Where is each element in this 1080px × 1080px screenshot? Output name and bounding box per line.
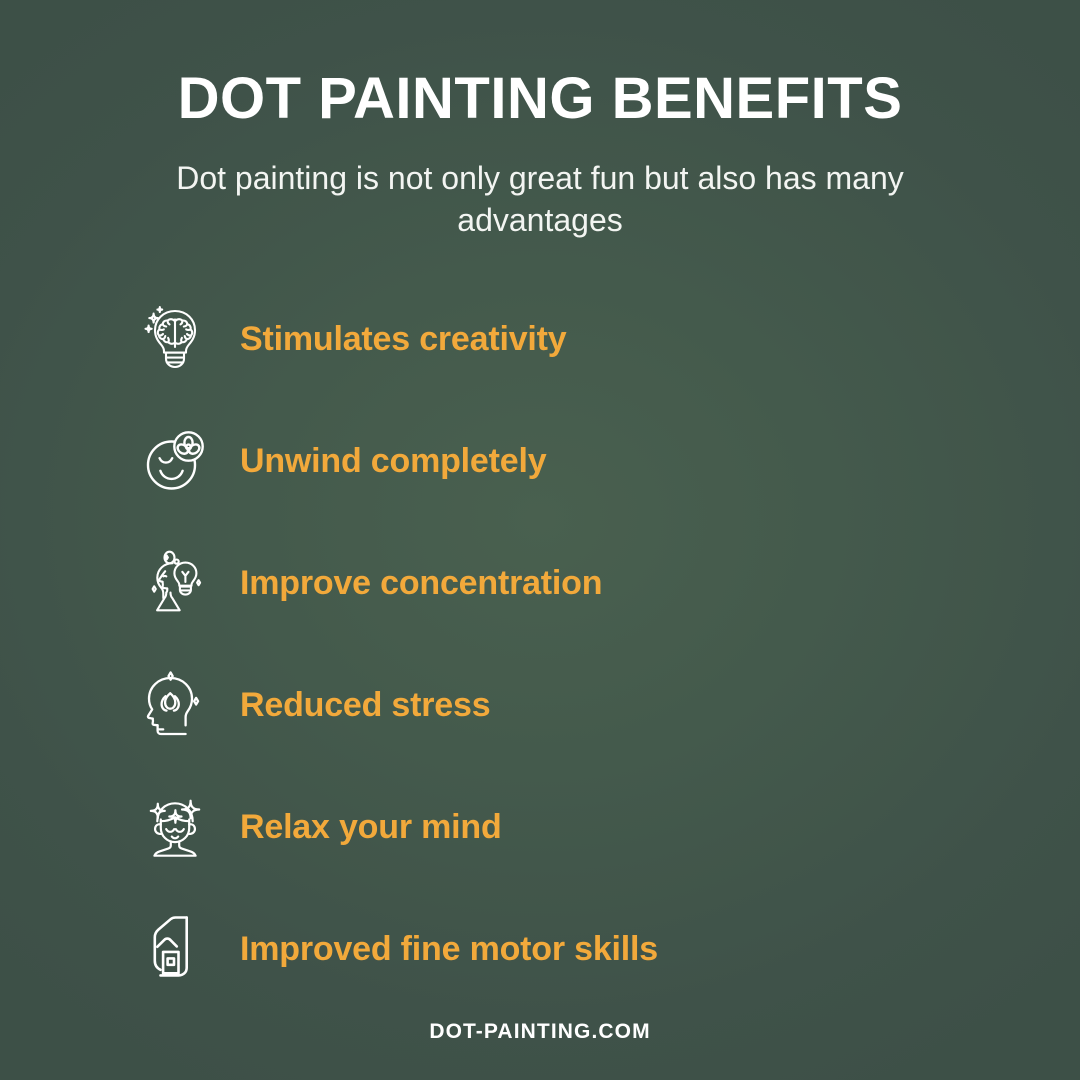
benefit-label-6: Improved fine motor skills bbox=[240, 930, 658, 969]
page-title: DOT PAINTING BENEFITS bbox=[0, 68, 1080, 131]
poster-header: DOT PAINTING BENEFITS Dot painting is no… bbox=[0, 0, 1080, 241]
smiling-face-flower-icon bbox=[142, 425, 208, 497]
benefit-label-2: Unwind completely bbox=[240, 442, 546, 481]
benefits-list: Stimulates creativity bbox=[0, 289, 1080, 999]
head-profile-lightbulb-icon bbox=[142, 547, 208, 619]
benefit-label-1: Stimulates creativity bbox=[240, 320, 567, 359]
website-url: DOT-PAINTING.COM bbox=[429, 1020, 650, 1043]
benefit-item-6: Improved fine motor skills bbox=[142, 899, 658, 999]
head-profile-lotus-icon bbox=[142, 669, 208, 741]
benefit-item-3: Improve concentration bbox=[142, 533, 602, 633]
poster-footer: DOT-PAINTING.COM bbox=[0, 1020, 1080, 1044]
lightbulb-brain-icon bbox=[142, 303, 208, 375]
benefit-item-4: Reduced stress bbox=[142, 655, 490, 755]
calm-face-stars-icon bbox=[142, 791, 208, 863]
hand-holding-tool-icon bbox=[142, 913, 208, 985]
benefit-label-5: Relax your mind bbox=[240, 808, 502, 847]
benefit-item-5: Relax your mind bbox=[142, 777, 502, 877]
poster-canvas: DOT PAINTING BENEFITS Dot painting is no… bbox=[0, 0, 1080, 1080]
benefit-label-4: Reduced stress bbox=[240, 686, 490, 725]
benefit-label-3: Improve concentration bbox=[240, 564, 602, 603]
benefit-item-1: Stimulates creativity bbox=[142, 289, 567, 389]
page-subtitle: Dot painting is not only great fun but a… bbox=[155, 157, 925, 241]
benefit-item-2: Unwind completely bbox=[142, 411, 546, 511]
